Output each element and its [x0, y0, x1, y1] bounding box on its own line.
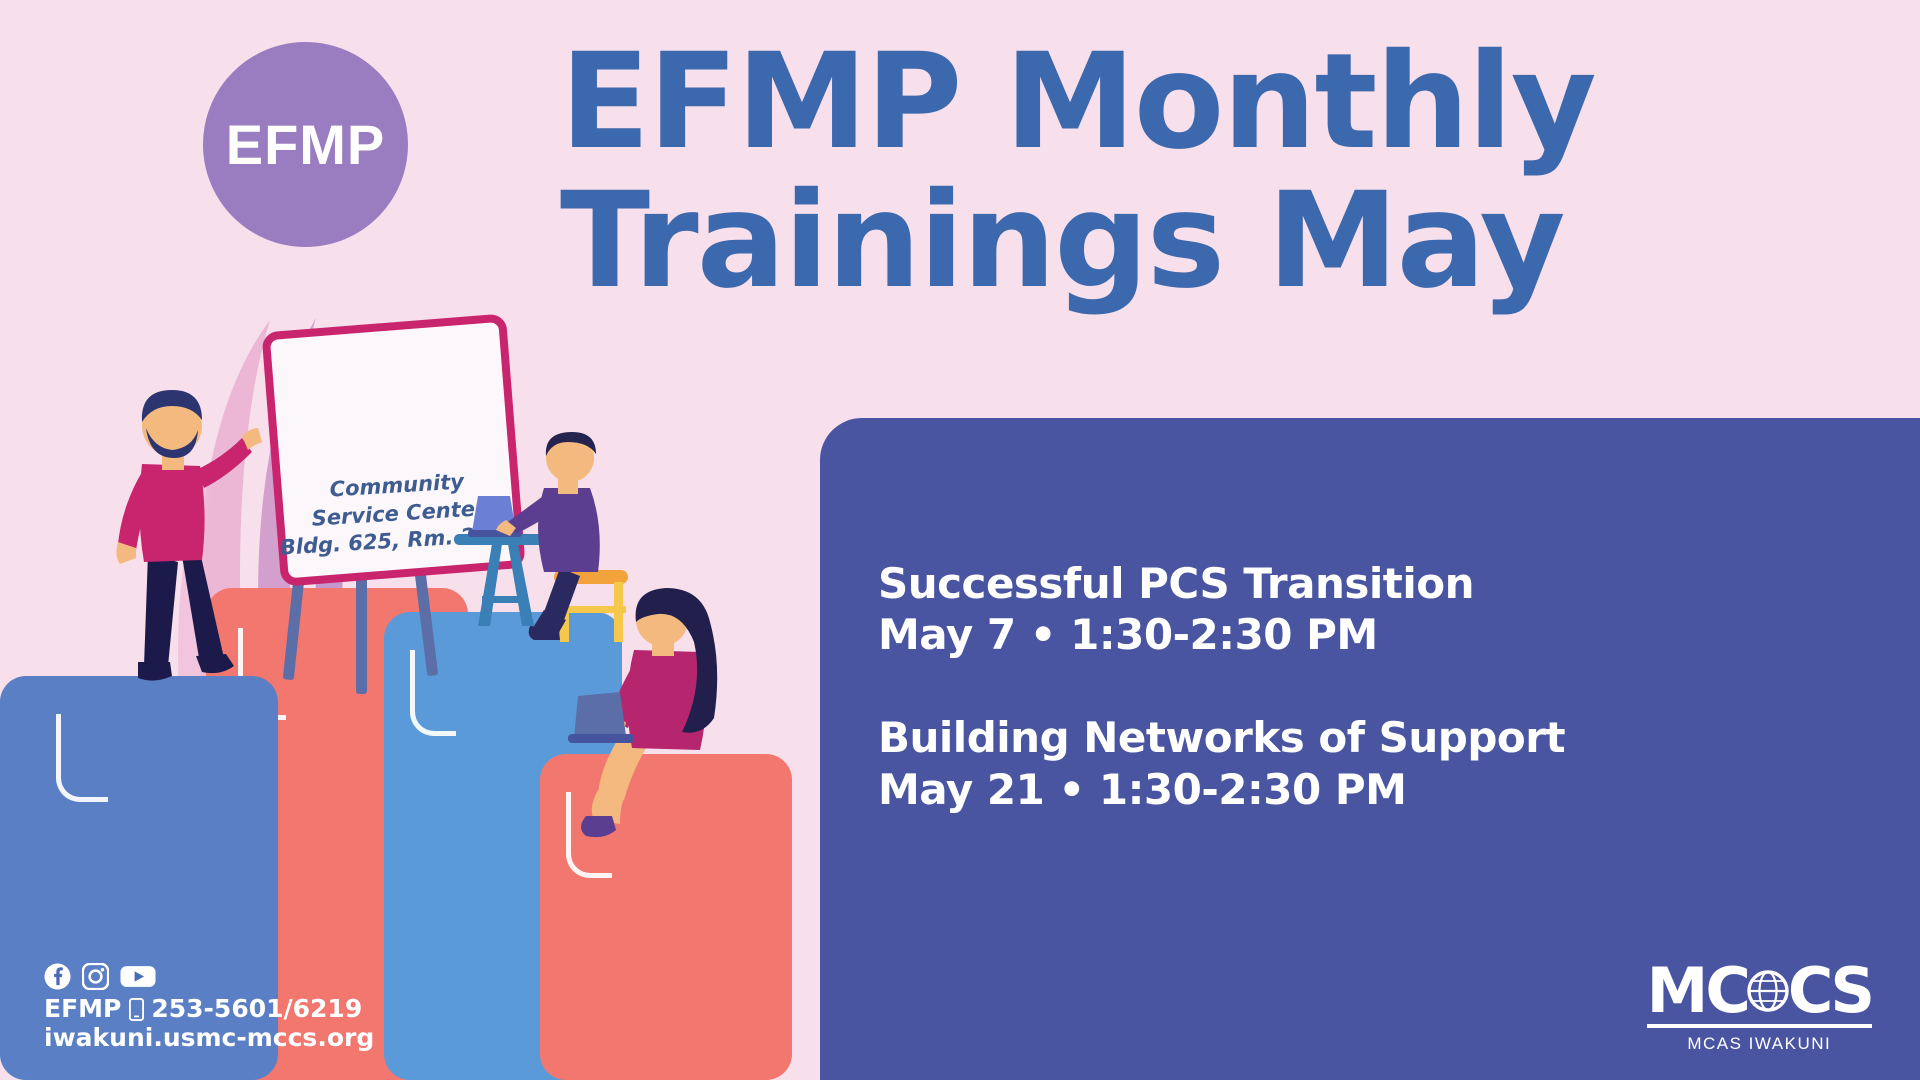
- mccs-letter-c2: C: [1788, 960, 1831, 1022]
- efmp-badge: EFMP: [203, 42, 408, 247]
- facebook-icon[interactable]: [44, 963, 71, 990]
- event-item: Successful PCS Transition May 7 • 1:30-2…: [878, 558, 1565, 660]
- social-links: [44, 963, 374, 990]
- instagram-icon[interactable]: [82, 963, 109, 990]
- event-item: Building Networks of Support May 21 • 1:…: [878, 712, 1565, 814]
- contact-block: EFMP 253-5601/6219 iwakuni.usmc-mccs.org: [44, 963, 374, 1052]
- block-blue-left-line: [56, 714, 108, 802]
- mccs-logo: M C C S MCAS IWAKUNI: [1647, 960, 1872, 1054]
- event-title: Building Networks of Support: [878, 712, 1565, 763]
- trainings-panel: Successful PCS Transition May 7 • 1:30-2…: [820, 418, 1920, 1080]
- contact-phone: EFMP 253-5601/6219: [44, 995, 374, 1024]
- mccs-letter-c: C: [1705, 960, 1748, 1022]
- efmp-badge-label: EFMP: [226, 117, 386, 173]
- event-datetime: May 21 • 1:30-2:30 PM: [878, 764, 1565, 815]
- mccs-letter-m: M: [1647, 960, 1706, 1022]
- youtube-icon[interactable]: [120, 963, 156, 990]
- mccs-location: MCAS IWAKUNI: [1647, 1034, 1872, 1054]
- poster-canvas: EFMP EFMP Monthly Trainings May Communit…: [0, 0, 1920, 1080]
- event-datetime: May 7 • 1:30-2:30 PM: [878, 609, 1565, 660]
- person-presenter: [96, 366, 296, 696]
- mccs-wordmark: M C C S: [1647, 960, 1872, 1028]
- title-line-2: Trainings May: [560, 177, 1880, 306]
- event-title: Successful PCS Transition: [878, 558, 1565, 609]
- title-line-1: EFMP Monthly: [560, 38, 1880, 167]
- globe-anchor-icon: [1746, 969, 1790, 1013]
- contact-phone-number: 253-5601/6219: [151, 995, 362, 1024]
- phone-icon: [129, 998, 144, 1021]
- event-list: Successful PCS Transition May 7 • 1:30-2…: [878, 558, 1565, 815]
- person-seated-laptop: [562, 586, 802, 846]
- mccs-letter-s: S: [1830, 960, 1872, 1022]
- contact-website[interactable]: iwakuni.usmc-mccs.org: [44, 1024, 374, 1053]
- contact-phone-label: EFMP: [44, 995, 121, 1024]
- page-title: EFMP Monthly Trainings May: [560, 38, 1880, 307]
